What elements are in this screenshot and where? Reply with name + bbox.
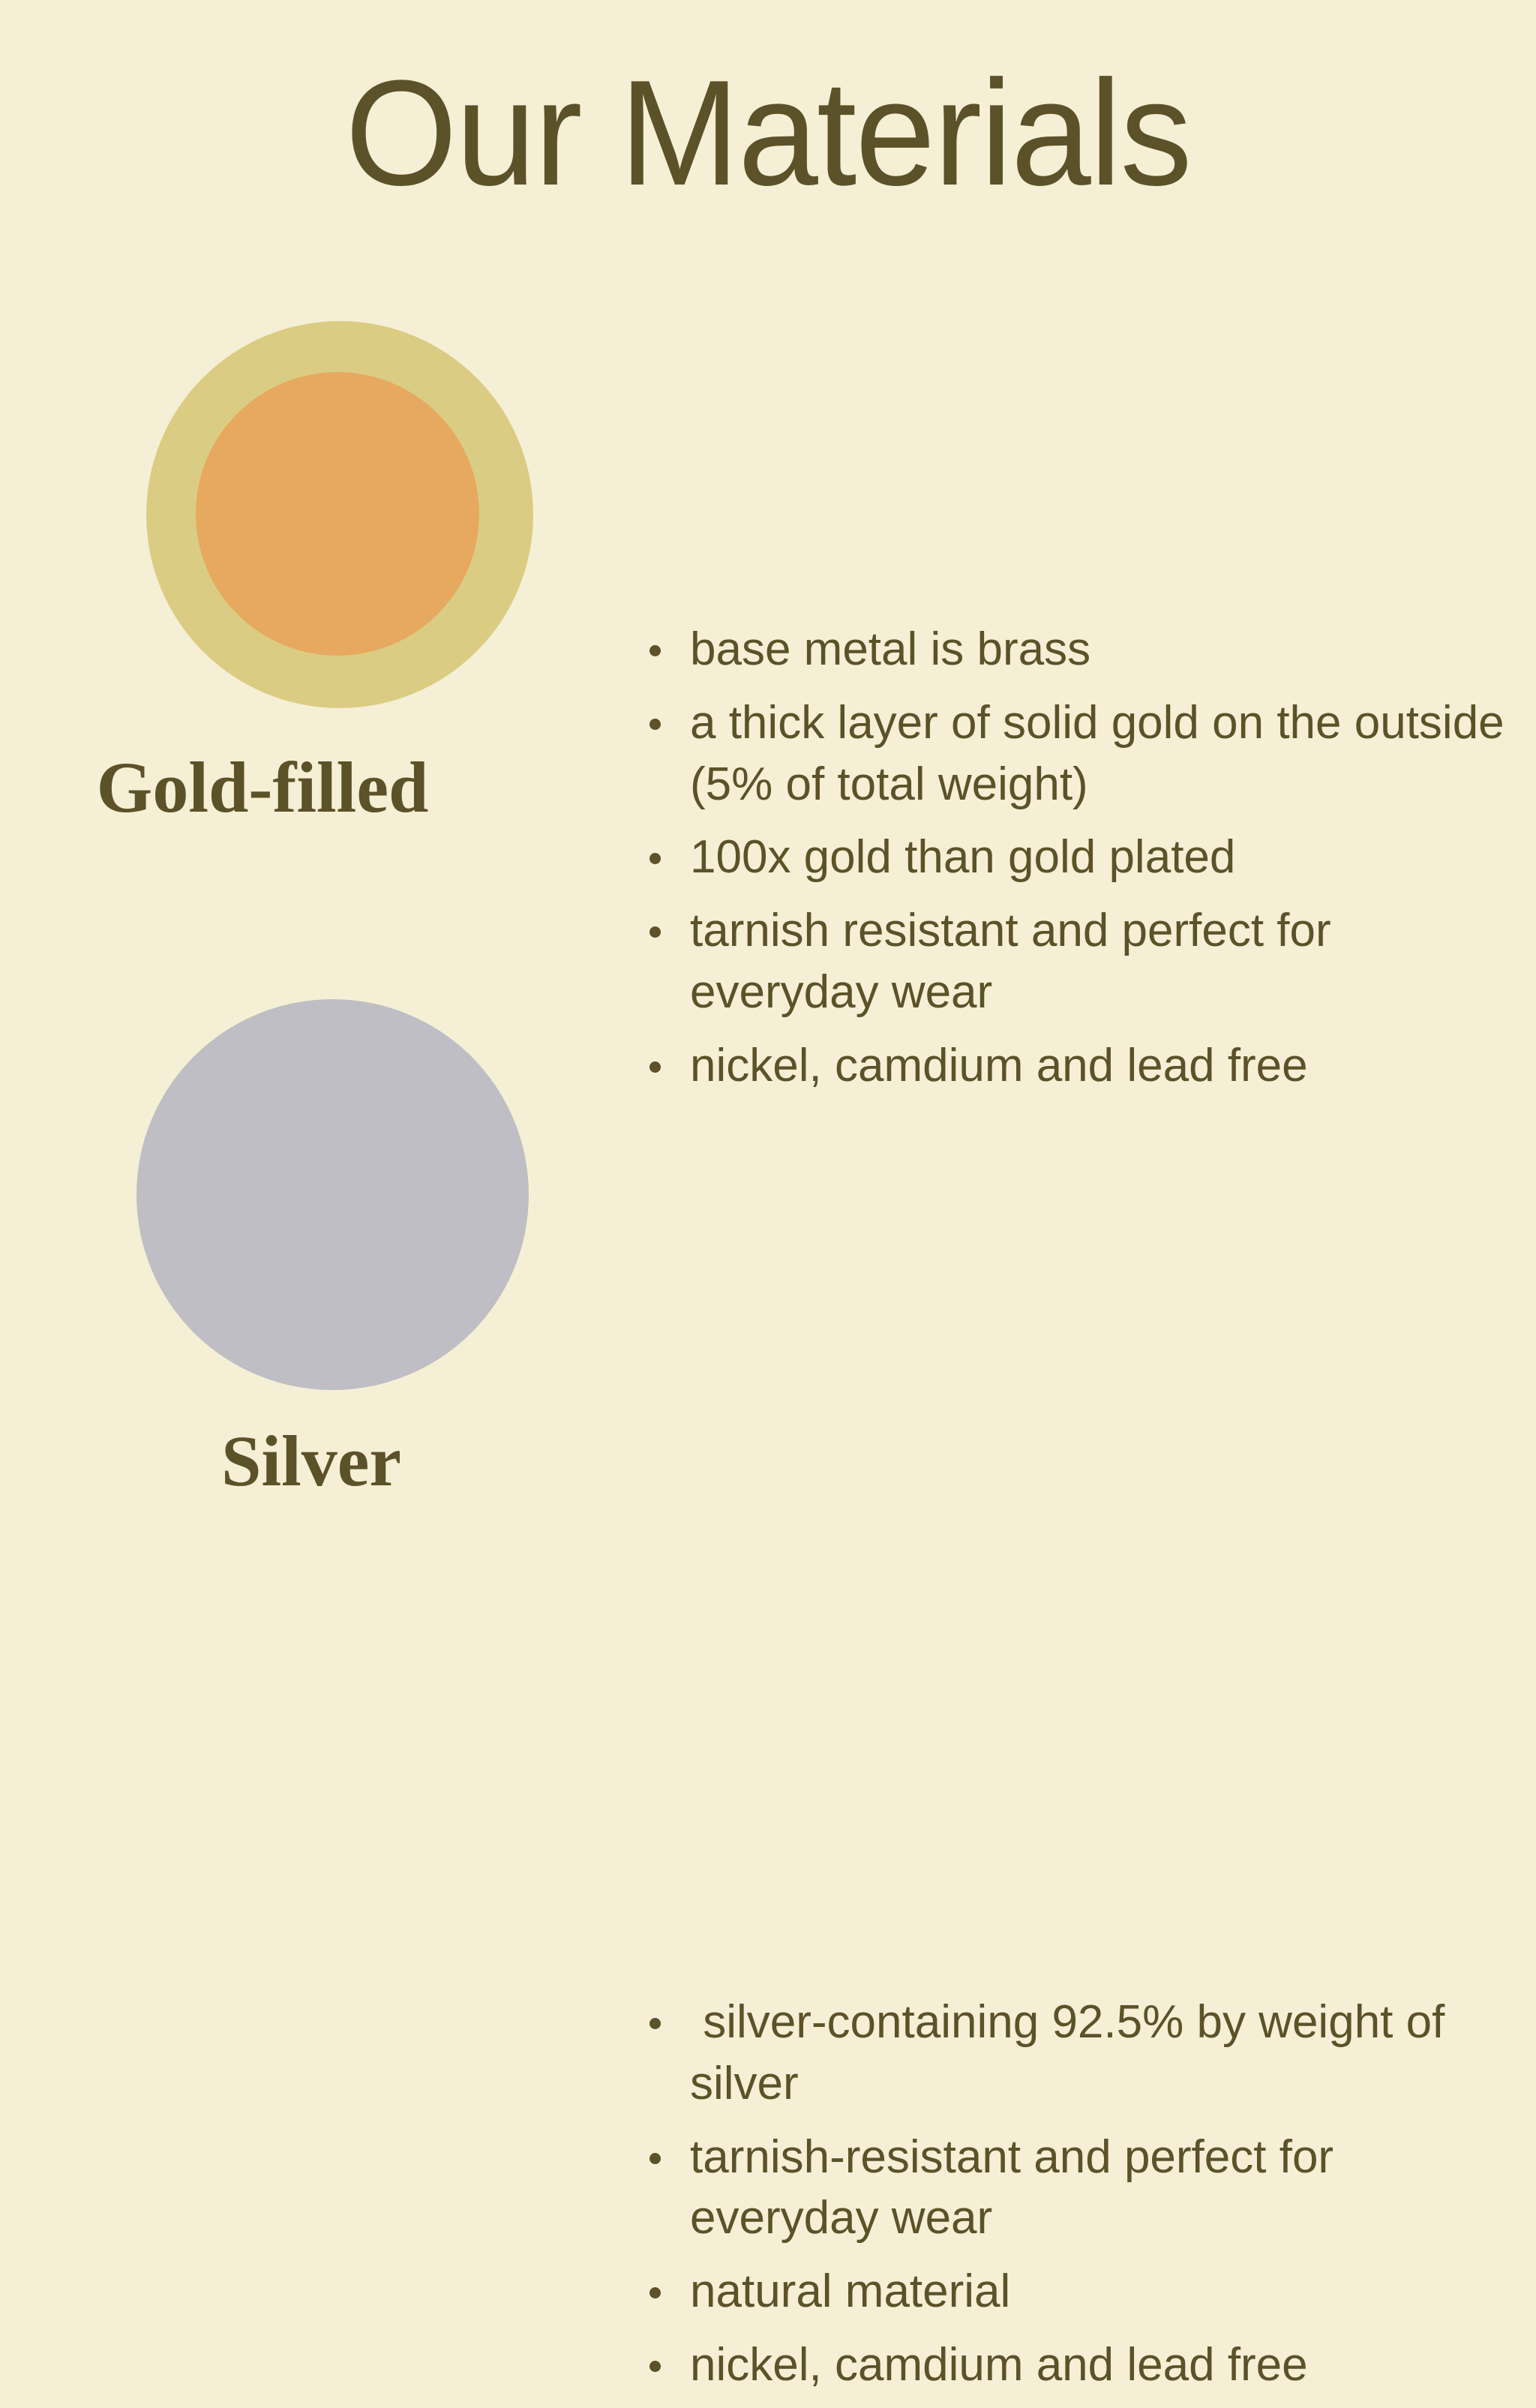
materials-poster: Our Materials Gold-filled base metal is … — [0, 0, 1536, 1536]
silver-label: Silver — [0, 1425, 622, 1497]
list-item: base metal is brass — [643, 619, 1521, 680]
list-item: tarnish-resistant and perfect for everyd… — [643, 2127, 1528, 2250]
gold-filled-swatch — [146, 321, 533, 708]
gold-filled-label: Gold-filled — [0, 752, 525, 824]
silver-swatch-circle-icon — [136, 999, 529, 1390]
list-item: silver-containing 92.5% by weight of sil… — [643, 1992, 1528, 2115]
list-item: a thick layer of solid gold on the outsi… — [643, 692, 1521, 815]
section-gold-filled: Gold-filled base metal is brass a thick … — [0, 300, 1536, 900]
page-title: Our Materials — [31, 59, 1505, 209]
gold-inner-circle-icon — [196, 372, 479, 656]
list-item: 100x gold than gold plated — [643, 827, 1521, 888]
silver-bullet-list: silver-containing 92.5% by weight of sil… — [643, 1992, 1528, 2408]
list-item: nickel, camdium and lead free — [643, 2334, 1528, 2396]
section-silver: Silver silver-containing 92.5% by weight… — [0, 975, 1536, 1536]
list-item: natural material — [643, 2261, 1528, 2322]
